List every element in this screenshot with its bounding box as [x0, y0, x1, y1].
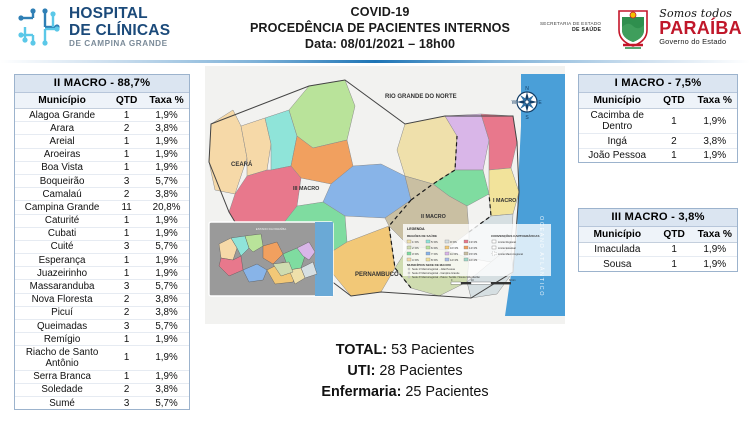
cell-municipio: Esperança — [15, 254, 109, 267]
table-row: Remígio11,9% — [15, 333, 189, 346]
cell-municipio: Sumé — [15, 396, 109, 409]
cell-municipio: Imaculada — [579, 243, 656, 257]
table-row: João Pessoa11,9% — [579, 148, 737, 162]
cell-taxa: 3,8% — [144, 383, 189, 396]
cell-qtd: 1 — [655, 148, 692, 162]
cell-municipio: Alagoa Grande — [15, 109, 109, 122]
title-date: Data: 08/01/2021 – 18h00 — [215, 36, 545, 52]
svg-text:12ª RS: 12ª RS — [450, 258, 458, 262]
cell-municipio: Sousa — [579, 257, 656, 271]
enfermaria-value: 25 Pacientes — [405, 384, 488, 400]
label-macro-iii: III MACRO — [293, 186, 319, 192]
cell-municipio: Boqueirão — [15, 174, 109, 187]
table-macro-iii: III MACRO - 3,8% Município QTD Taxa % Im… — [578, 208, 738, 272]
map-inset: ESTADO DA PARAÍBA — [209, 222, 333, 296]
cell-qtd: 3 — [109, 396, 144, 409]
cell-taxa: 5,7% — [144, 280, 189, 293]
table-row: Arara23,8% — [15, 122, 189, 135]
cell-taxa: 1,9% — [144, 333, 189, 346]
legend-section-regioes: REGIÕES DE SAÚDE — [407, 233, 437, 238]
ses-line-1: SECRETARIA DE ESTADO — [540, 21, 601, 27]
cell-municipio: Juazeirinho — [15, 267, 109, 280]
legend-section-convencoes: CONVENÇÕES CARTOGRÁFICAS — [491, 233, 539, 238]
cell-qtd: 1 — [109, 109, 144, 122]
cell-qtd: 11 — [109, 201, 144, 214]
cell-qtd: 3 — [109, 320, 144, 333]
col-header-municipio: Município — [579, 93, 655, 109]
table-row: Massaranduba35,7% — [15, 280, 189, 293]
table-row: Sumé35,7% — [15, 396, 189, 409]
table-row: Cuité35,7% — [15, 240, 189, 253]
svg-text:3ª RS: 3ª RS — [412, 252, 419, 256]
page-header: HOSPITAL DE CLÍNICAS DE CAMPINA GRANDE C… — [0, 0, 750, 58]
label-ceara: CEARÁ — [231, 161, 253, 168]
svg-text:6ª RS: 6ª RS — [431, 246, 438, 250]
cell-municipio: Riacho de Santo Antônio — [15, 346, 109, 370]
cell-taxa: 5,7% — [144, 240, 189, 253]
total-label: TOTAL: — [336, 342, 387, 358]
brand-paraiba: PARAÍBA — [659, 20, 742, 37]
cell-taxa: 1,9% — [693, 257, 737, 271]
table-row: Juazeirinho11,9% — [15, 267, 189, 280]
legend-section-sedes: MUNICÍPIOS SEDE DE MACRO — [407, 262, 452, 267]
page-title: COVID-19 PROCEDÊNCIA DE PACIENTES INTERN… — [215, 4, 545, 52]
cell-municipio: João Pessoa — [579, 148, 655, 162]
col-header-qtd: QTD — [655, 93, 692, 109]
cell-taxa: 1,9% — [144, 109, 189, 122]
svg-text:15ª RS: 15ª RS — [469, 252, 477, 256]
table-row: Caturité11,9% — [15, 214, 189, 227]
svg-text:Sede 1ª Macrorregional - João: Sede 1ª Macrorregional - João Pessoa — [412, 267, 456, 271]
totals-summary: TOTAL: 53 Pacientes UTI: 28 Pacientes En… — [255, 340, 555, 403]
cell-qtd: 2 — [109, 293, 144, 306]
enfermaria-label: Enfermaria: — [321, 384, 401, 400]
svg-text:10ª RS: 10ª RS — [450, 246, 458, 250]
cell-taxa: 1,9% — [144, 214, 189, 227]
cell-municipio: Campina Grande — [15, 201, 109, 214]
col-header-qtd: QTD — [109, 93, 144, 109]
table-row: Esperança11,9% — [15, 254, 189, 267]
svg-text:80 km: 80 km — [509, 279, 516, 282]
logo-line-hospital: HOSPITAL — [69, 6, 170, 22]
cell-taxa: 3,8% — [692, 134, 737, 148]
cell-taxa: 1,9% — [144, 148, 189, 161]
cell-municipio: Queimadas — [15, 320, 109, 333]
table-row: Ingá23,8% — [579, 134, 737, 148]
table-row: Sousa11,9% — [579, 257, 737, 271]
cell-taxa: 1,9% — [144, 227, 189, 240]
uti-line: UTI: 28 Pacientes — [255, 361, 555, 382]
svg-text:8ª RS: 8ª RS — [431, 258, 438, 262]
cell-qtd: 1 — [109, 333, 144, 346]
label-rio-grande-do-norte: RIO GRANDE DO NORTE — [385, 94, 457, 100]
table-row: Cacimba de Dentro11,9% — [579, 109, 737, 134]
cell-municipio: Arara — [15, 122, 109, 135]
cell-qtd: 1 — [655, 109, 692, 134]
svg-text:9ª RS: 9ª RS — [450, 240, 457, 244]
cell-municipio: Cuité — [15, 240, 109, 253]
cell-taxa: 1,9% — [692, 148, 737, 162]
network-nodes-icon — [16, 7, 62, 47]
table-row: Imaculada11,9% — [579, 243, 737, 257]
label-macro-ii: II MACRO — [421, 214, 446, 220]
logo-line-clinicas: DE CLÍNICAS — [69, 23, 170, 39]
label-macro-i: I MACRO — [493, 198, 516, 204]
health-secretariat-label: SECRETARIA DE ESTADO DE SAÚDE — [540, 21, 601, 33]
compass-n: N — [525, 86, 529, 92]
ses-line-2: DE SAÚDE — [540, 27, 601, 34]
svg-text:7ª RS: 7ª RS — [431, 252, 438, 256]
cell-municipio: Cacimba de Dentro — [579, 109, 655, 134]
cell-taxa: 5,7% — [144, 320, 189, 333]
cell-qtd: 2 — [109, 306, 144, 319]
cell-qtd: 2 — [109, 383, 144, 396]
table-row: Alagoa Grande11,9% — [15, 109, 189, 122]
label-pernambuco: PERNAMBUCO — [355, 272, 399, 278]
uti-value: 28 Pacientes — [379, 363, 462, 379]
cell-municipio: Caturité — [15, 214, 109, 227]
col-header-qtd: QTD — [656, 227, 693, 243]
macro-i-title: I MACRO - 7,5% — [579, 75, 737, 93]
cell-taxa: 1,9% — [692, 109, 737, 134]
cell-qtd: 1 — [109, 135, 144, 148]
total-value: 53 Pacientes — [391, 342, 474, 358]
table-row: Aroeiras11,9% — [15, 148, 189, 161]
cell-municipio: Picuí — [15, 306, 109, 319]
cell-taxa: 1,9% — [144, 135, 189, 148]
svg-text:16ª RS: 16ª RS — [469, 258, 477, 262]
cell-taxa: 5,7% — [144, 396, 189, 409]
col-header-taxa: Taxa % — [144, 93, 189, 109]
uti-label: UTI: — [347, 363, 375, 379]
macro-iii-title: III MACRO - 3,8% — [579, 209, 737, 227]
cell-qtd: 2 — [109, 188, 144, 201]
cell-qtd: 1 — [109, 214, 144, 227]
svg-text:13ª RS: 13ª RS — [469, 240, 477, 244]
svg-text:2ª RS: 2ª RS — [412, 246, 419, 250]
title-covid: COVID-19 — [215, 4, 545, 20]
table-row: Picuí23,8% — [15, 306, 189, 319]
cell-qtd: 3 — [109, 280, 144, 293]
svg-text:14ª RS: 14ª RS — [469, 246, 477, 250]
cell-qtd: 3 — [109, 174, 144, 187]
cell-qtd: 1 — [109, 370, 144, 383]
cell-qtd: 1 — [109, 254, 144, 267]
cell-qtd: 1 — [109, 227, 144, 240]
cell-taxa: 1,9% — [144, 254, 189, 267]
cell-municipio: Soledade — [15, 383, 109, 396]
cell-municipio: Cubati — [15, 227, 109, 240]
logo-line-campina-grande: DE CAMPINA GRANDE — [69, 40, 170, 48]
compass-w: W — [512, 100, 517, 106]
col-header-taxa: Taxa % — [692, 93, 737, 109]
inset-title: ESTADO DA PARAÍBA — [256, 227, 287, 231]
cell-taxa: 1,9% — [144, 346, 189, 370]
col-header-municipio: Município — [579, 227, 656, 243]
cell-taxa: 3,8% — [144, 122, 189, 135]
svg-text:11ª RS: 11ª RS — [450, 252, 458, 256]
cell-municipio: Remígio — [15, 333, 109, 346]
government-branding: SECRETARIA DE ESTADO DE SAÚDE Somos todo… — [540, 5, 742, 49]
cell-municipio: Camalaú — [15, 188, 109, 201]
paraiba-brand: Somos todos PARAÍBA Governo do Estado — [659, 8, 742, 46]
col-header-taxa: Taxa % — [693, 227, 737, 243]
cell-qtd: 1 — [109, 267, 144, 280]
paraiba-health-regions-map: CEARÁ RIO GRANDE DO NORTE PERNAMBUCO OCE… — [205, 66, 565, 324]
svg-text:1ª RS: 1ª RS — [412, 240, 419, 244]
total-line: TOTAL: 53 Pacientes — [255, 340, 555, 361]
col-header-municipio: Município — [15, 93, 109, 109]
table-row: Queimadas35,7% — [15, 320, 189, 333]
cell-taxa: 20,8% — [144, 201, 189, 214]
brand-governo: Governo do Estado — [659, 38, 742, 45]
svg-text:Limite Regional: Limite Regional — [498, 240, 516, 244]
table-macro-i: I MACRO - 7,5% Município QTD Taxa % Caci… — [578, 74, 738, 163]
table-row: Boqueirão35,7% — [15, 174, 189, 187]
map-svg: CEARÁ RIO GRANDE DO NORTE PERNAMBUCO OCE… — [205, 66, 565, 324]
cell-qtd: 3 — [109, 240, 144, 253]
hospital-logo: HOSPITAL DE CLÍNICAS DE CAMPINA GRANDE — [16, 6, 170, 48]
cell-taxa: 1,9% — [144, 370, 189, 383]
cell-municipio: Aroeiras — [15, 148, 109, 161]
cell-taxa: 1,9% — [693, 243, 737, 257]
cell-municipio: Boa Vista — [15, 161, 109, 174]
enfermaria-line: Enfermaria: 25 Pacientes — [255, 382, 555, 403]
table-row: Serra Branca11,9% — [15, 370, 189, 383]
cell-qtd: 1 — [109, 346, 144, 370]
cell-qtd: 1 — [109, 148, 144, 161]
header-divider — [0, 60, 750, 63]
table-row: Soledade23,8% — [15, 383, 189, 396]
cell-municipio: Serra Branca — [15, 370, 109, 383]
cell-qtd: 2 — [109, 122, 144, 135]
cell-municipio: Nova Floresta — [15, 293, 109, 306]
macro-ii-title: II MACRO - 88,7% — [15, 75, 189, 93]
svg-text:Limite Macrorregional: Limite Macrorregional — [498, 252, 523, 256]
cell-qtd: 1 — [109, 161, 144, 174]
cell-taxa: 3,8% — [144, 306, 189, 319]
table-macro-ii: II MACRO - 88,7% Município QTD Taxa % Al… — [14, 74, 190, 410]
svg-text:4ª RS: 4ª RS — [412, 258, 419, 262]
cell-qtd: 1 — [656, 243, 693, 257]
cell-taxa: 5,7% — [144, 174, 189, 187]
table-row: Boa Vista11,9% — [15, 161, 189, 174]
cell-taxa: 1,9% — [144, 161, 189, 174]
paraiba-coat-of-arms-icon — [613, 5, 653, 49]
cell-taxa: 3,8% — [144, 293, 189, 306]
map-legend: LEGENDA REGIÕES DE SAÚDE 1ª RS 5ª RS 9ª … — [403, 224, 551, 284]
svg-text:5ª RS: 5ª RS — [431, 240, 438, 244]
table-row: Nova Floresta23,8% — [15, 293, 189, 306]
cell-taxa: 3,8% — [144, 188, 189, 201]
legend-title: LEGENDA — [407, 227, 425, 231]
svg-text:Sede 2ª Macrorregional - Campi: Sede 2ª Macrorregional - Campina Grande — [412, 271, 460, 275]
svg-text:Limite Estadual: Limite Estadual — [498, 246, 516, 250]
table-row: Campina Grande1120,8% — [15, 201, 189, 214]
table-row: Areial11,9% — [15, 135, 189, 148]
cell-taxa: 1,9% — [144, 267, 189, 280]
cell-municipio: Areial — [15, 135, 109, 148]
cell-qtd: 1 — [656, 257, 693, 271]
cell-municipio: Massaranduba — [15, 280, 109, 293]
table-row: Cubati11,9% — [15, 227, 189, 240]
cell-qtd: 2 — [655, 134, 692, 148]
table-row: Riacho de Santo Antônio11,9% — [15, 346, 189, 370]
table-row: Camalaú23,8% — [15, 188, 189, 201]
title-subject: PROCEDÊNCIA DE PACIENTES INTERNOS — [215, 20, 545, 36]
cell-municipio: Ingá — [579, 134, 655, 148]
